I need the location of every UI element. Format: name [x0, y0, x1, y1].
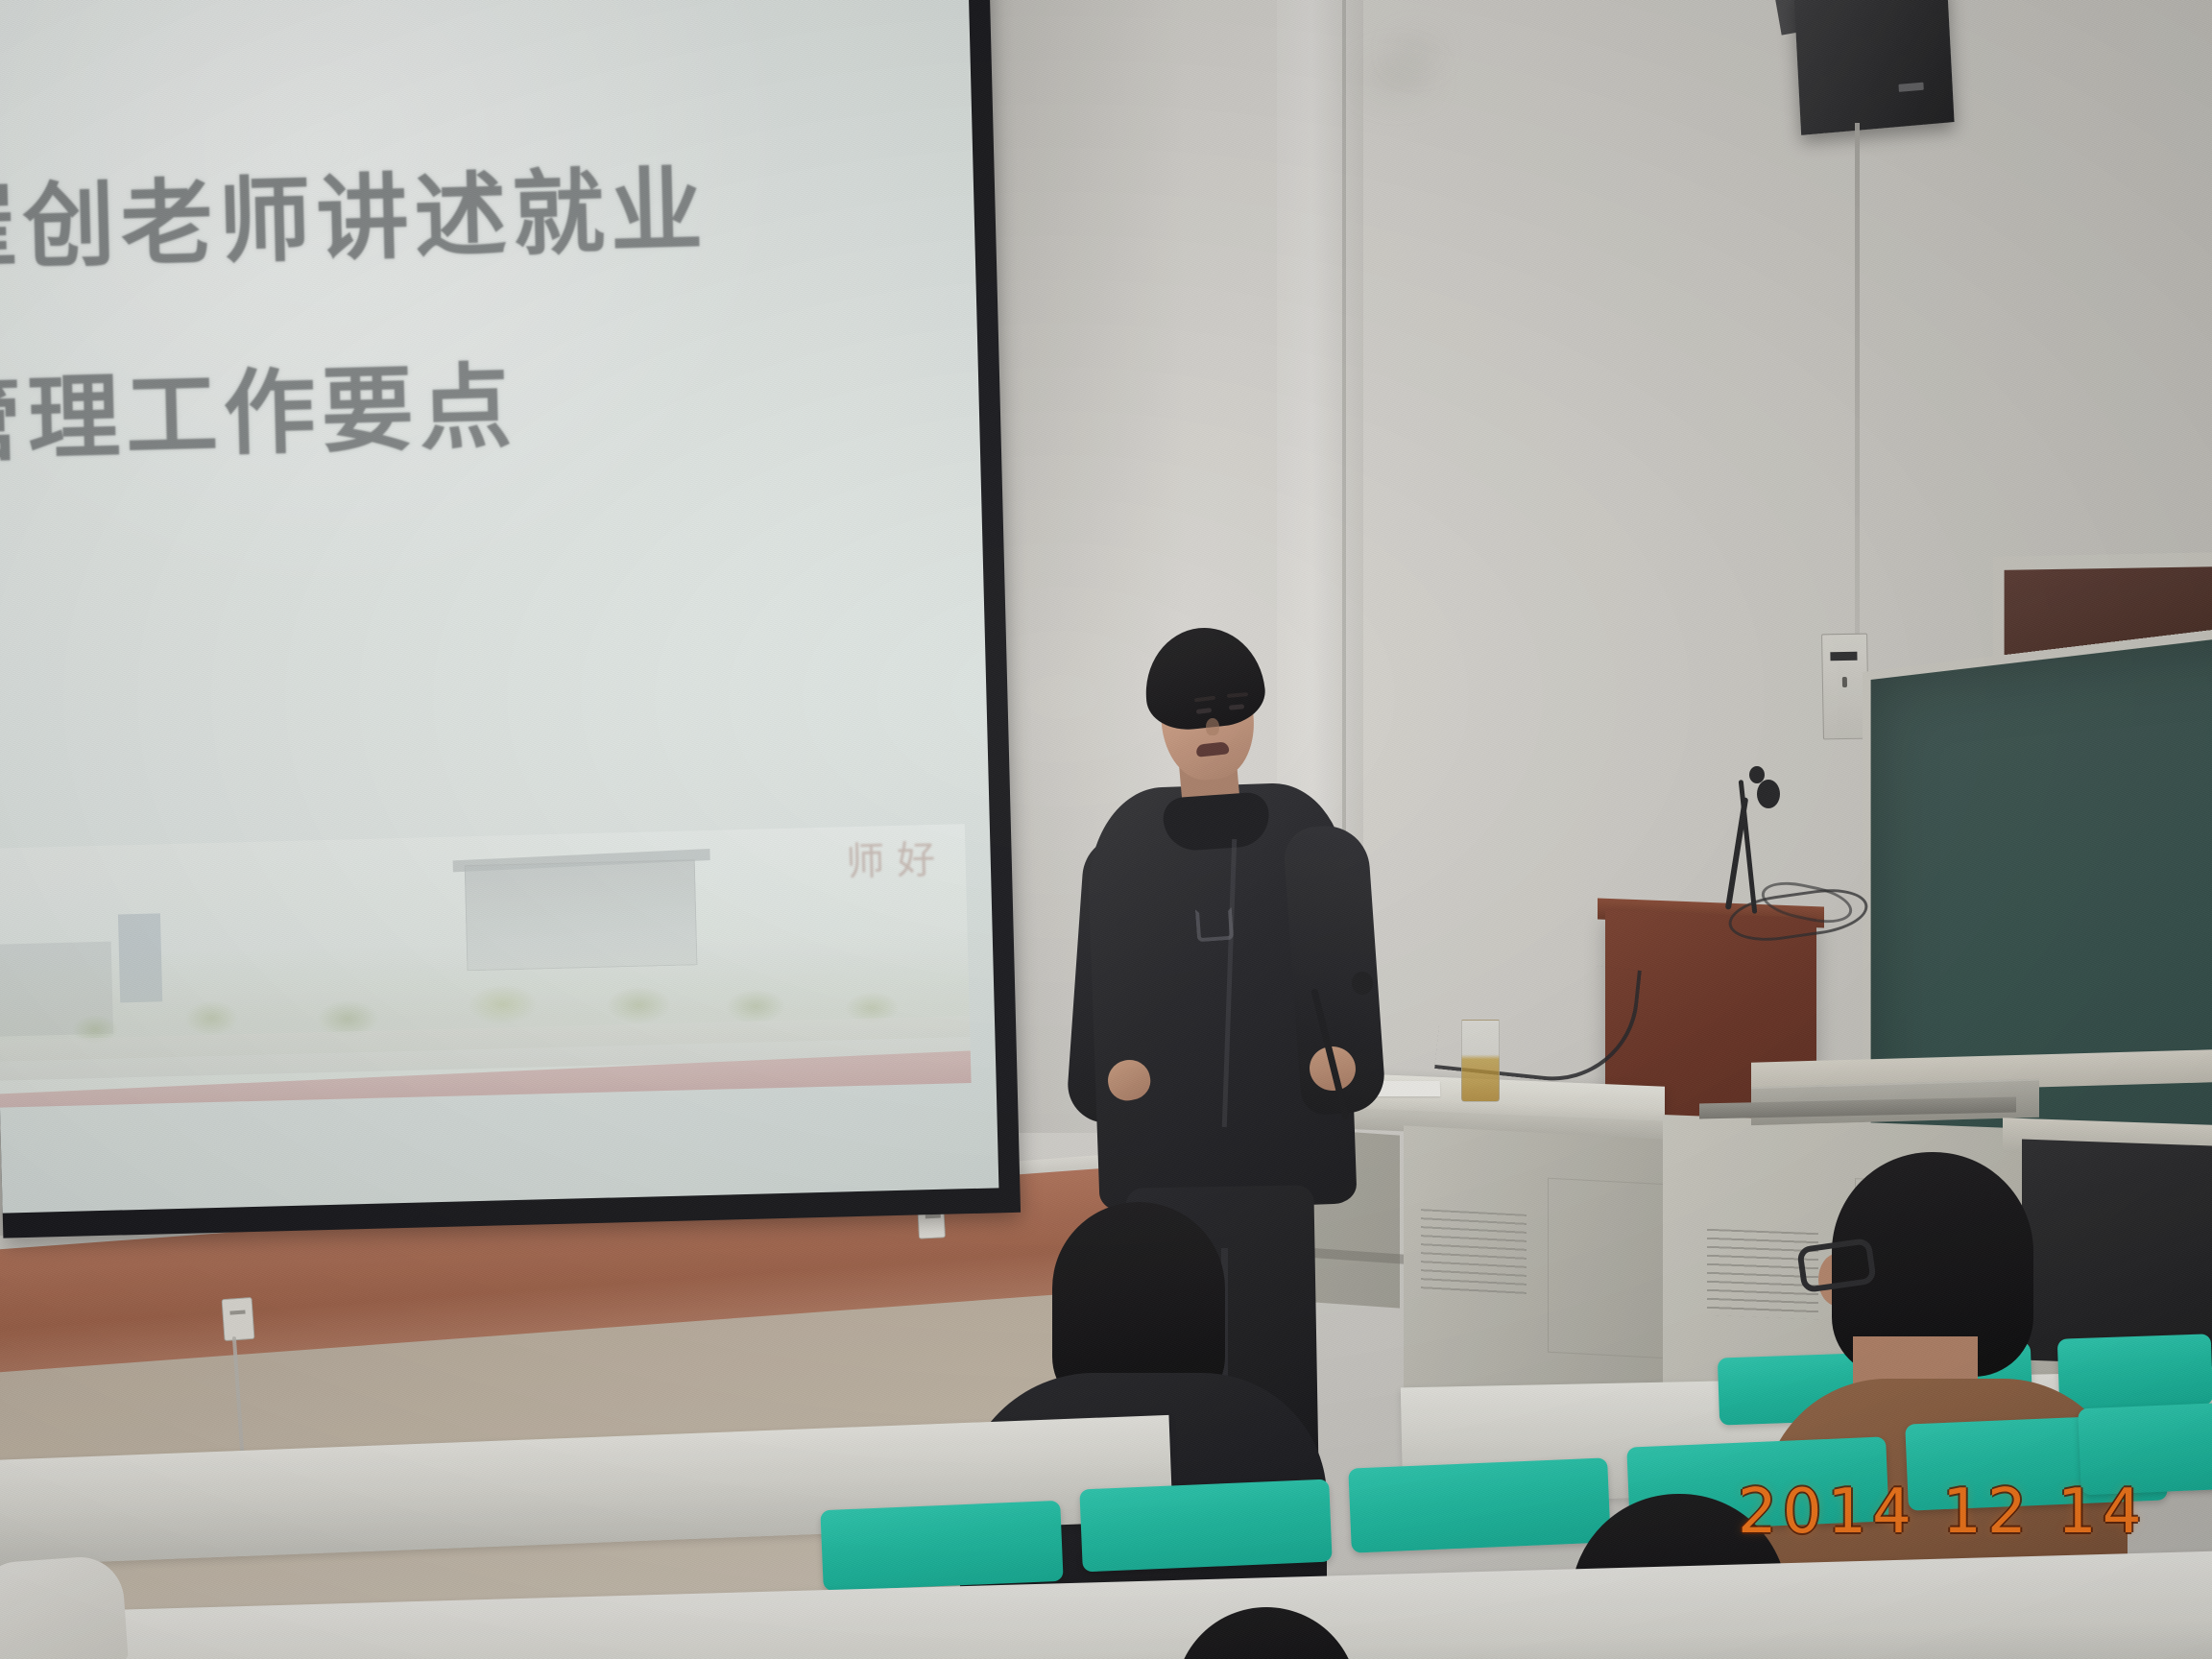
tea-glass	[1461, 1020, 1500, 1102]
handheld-microphone-head	[1352, 972, 1373, 995]
screen-surface: 崔创老师讲述就业 管理工作要点 师 好	[0, 0, 998, 1214]
photograph-canvas: 崔创老师讲述就业 管理工作要点 师 好	[0, 0, 2212, 1659]
lower-cabinet-vent	[1421, 1209, 1527, 1297]
presenter-nose	[1206, 718, 1219, 735]
wall-mark-1	[1363, 58, 1431, 96]
speaker-badge	[1898, 83, 1923, 92]
screen-texture	[0, 0, 998, 1214]
foreground-seat-headrest	[0, 1554, 129, 1659]
camera-date-stamp: 2014 12 14	[1738, 1477, 2147, 1548]
speaker-wire	[1855, 123, 1860, 641]
microphone-head-left	[1749, 766, 1765, 783]
presenter-jacket-pocket	[1195, 907, 1234, 943]
projection-screen: 崔创老师讲述就业 管理工作要点 师 好	[0, 0, 1021, 1238]
control-box-slot	[1830, 652, 1857, 661]
chair-back-6[interactable]	[1348, 1457, 1610, 1552]
chair-back-4[interactable]	[820, 1501, 1063, 1591]
microphone-head-right	[1757, 780, 1780, 808]
chair-back-3[interactable]	[2057, 1334, 2212, 1410]
wall-outlet-left	[222, 1297, 255, 1341]
control-box-keyhole-icon	[1842, 677, 1847, 687]
wall-mark-2	[1397, 38, 1435, 63]
dark-monitor-screen	[2022, 1140, 2212, 1367]
chair-back-5[interactable]	[1079, 1479, 1332, 1573]
wall-speaker-icon	[1793, 0, 1954, 135]
lower-cabinet-door[interactable]	[1548, 1178, 1669, 1359]
